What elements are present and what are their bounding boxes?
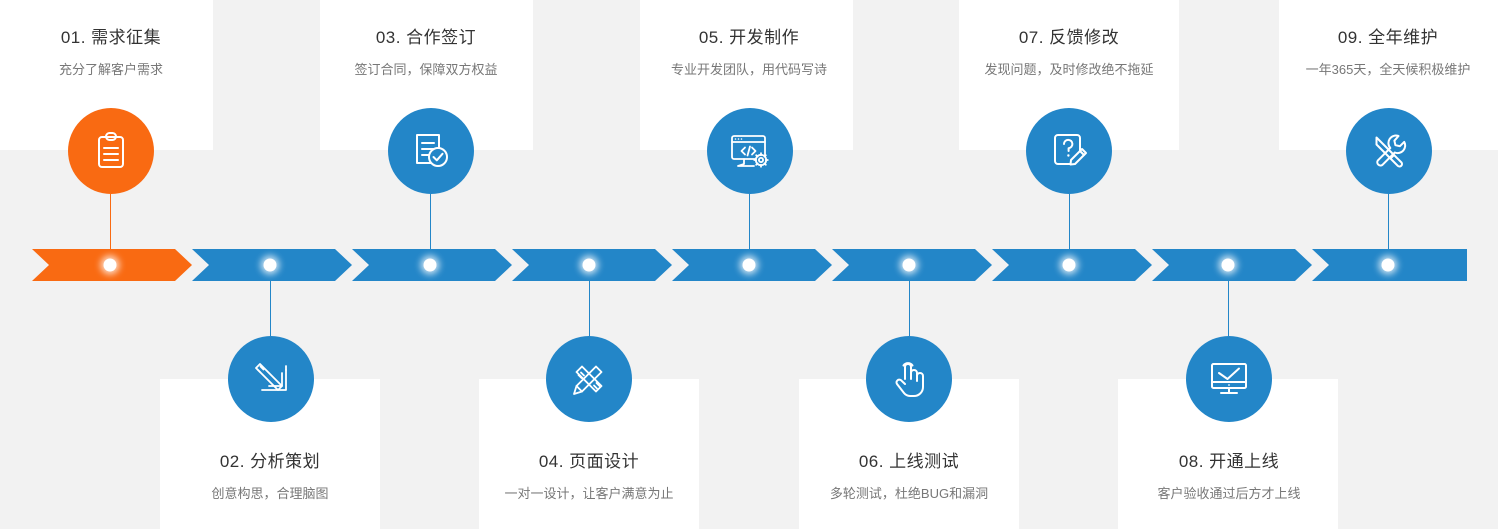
- step-label-4: 04. 页面设计 一对一设计，让客户满意为止: [429, 450, 749, 504]
- step-icon-circle-7[interactable]: [1026, 108, 1112, 194]
- chevron-dot-2: [264, 259, 277, 272]
- chevron-segment-1[interactable]: [32, 249, 192, 281]
- chevron-segment-5[interactable]: [672, 249, 832, 281]
- step-title-9: 09. 全年维护: [1228, 26, 1498, 50]
- step-icon-circle-8[interactable]: [1186, 336, 1272, 422]
- step-desc-4: 一对一设计，让客户满意为止: [429, 484, 749, 504]
- wrench-screwdriver-icon: [1366, 128, 1412, 174]
- document-check-icon: [409, 129, 453, 173]
- pencil-arrow-icon: [248, 356, 294, 402]
- chevron-segment-3[interactable]: [352, 249, 512, 281]
- step-icon-circle-4[interactable]: [546, 336, 632, 422]
- step-desc-2: 创意构思，合理脑图: [110, 484, 430, 504]
- chevron-band: [0, 249, 1498, 281]
- step-label-8: 08. 开通上线 客户验收通过后方才上线: [1069, 450, 1389, 504]
- step-icon-circle-5[interactable]: [707, 108, 793, 194]
- step-title-7: 07. 反馈修改: [909, 26, 1229, 50]
- chevron-segment-2[interactable]: [192, 249, 352, 281]
- step-desc-8: 客户验收通过后方才上线: [1069, 484, 1389, 504]
- process-timeline: 01. 需求征集 充分了解客户需求 02. 分析策划 创意构思，合理脑图: [0, 0, 1498, 529]
- connector-step-9: [1388, 194, 1389, 256]
- step-label-2: 02. 分析策划 创意构思，合理脑图: [110, 450, 430, 504]
- step-icon-circle-1[interactable]: [68, 108, 154, 194]
- step-label-9: 09. 全年维护 一年365天，全天候积极维护: [1228, 26, 1498, 80]
- chevron-segment-7[interactable]: [992, 249, 1152, 281]
- step-title-1: 01. 需求征集: [0, 26, 271, 50]
- chevron-dot-6: [903, 259, 916, 272]
- step-label-5: 05. 开发制作 专业开发团队，用代码写诗: [589, 26, 909, 80]
- chevron-dot-5: [743, 259, 756, 272]
- connector-step-4: [589, 274, 590, 336]
- chevron-segment-6[interactable]: [832, 249, 992, 281]
- step-desc-1: 充分了解客户需求: [0, 60, 271, 80]
- step-title-4: 04. 页面设计: [429, 450, 749, 474]
- step-icon-circle-9[interactable]: [1346, 108, 1432, 194]
- step-title-5: 05. 开发制作: [589, 26, 909, 50]
- step-desc-3: 签订合同，保障双方权益: [266, 60, 586, 80]
- step-title-3: 03. 合作签订: [266, 26, 586, 50]
- step-label-6: 06. 上线测试 多轮测试，杜绝BUG和漏洞: [749, 450, 1069, 504]
- step-icon-circle-2[interactable]: [228, 336, 314, 422]
- chevron-dot-4: [583, 259, 596, 272]
- step-desc-9: 一年365天，全天候积极维护: [1228, 60, 1498, 80]
- step-label-3: 03. 合作签订 签订合同，保障双方权益: [266, 26, 586, 80]
- chevron-dot-3: [424, 259, 437, 272]
- step-desc-6: 多轮测试，杜绝BUG和漏洞: [749, 484, 1069, 504]
- clipboard-icon: [89, 129, 133, 173]
- connector-step-3: [430, 194, 431, 256]
- connector-step-8: [1228, 274, 1229, 336]
- monitor-check-icon: [1206, 356, 1252, 402]
- chevron-dot-7: [1063, 259, 1076, 272]
- step-title-8: 08. 开通上线: [1069, 450, 1389, 474]
- pointing-hand-icon: [887, 357, 931, 401]
- connector-step-6: [909, 274, 910, 336]
- step-desc-7: 发现问题，及时修改绝不拖延: [909, 60, 1229, 80]
- step-label-1: 01. 需求征集 充分了解客户需求: [0, 26, 271, 80]
- step-icon-circle-6[interactable]: [866, 336, 952, 422]
- connector-step-2: [270, 274, 271, 336]
- pencil-ruler-icon: [566, 356, 612, 402]
- step-title-2: 02. 分析策划: [110, 450, 430, 474]
- chevron-dot-9: [1382, 259, 1395, 272]
- step-label-7: 07. 反馈修改 发现问题，及时修改绝不拖延: [909, 26, 1229, 80]
- step-desc-5: 专业开发团队，用代码写诗: [589, 60, 909, 80]
- note-question-pencil-icon: [1047, 129, 1091, 173]
- step-title-6: 06. 上线测试: [749, 450, 1069, 474]
- connector-step-7: [1069, 194, 1070, 256]
- monitor-code-gear-icon: [726, 127, 774, 175]
- chevron-segment-9[interactable]: [1312, 249, 1467, 281]
- chevron-segment-4[interactable]: [512, 249, 672, 281]
- chevron-segment-8[interactable]: [1152, 249, 1312, 281]
- chevron-dot-1: [104, 259, 117, 272]
- chevron-dot-8: [1222, 259, 1235, 272]
- step-icon-circle-3[interactable]: [388, 108, 474, 194]
- connector-step-1: [110, 194, 111, 256]
- connector-step-5: [749, 194, 750, 256]
